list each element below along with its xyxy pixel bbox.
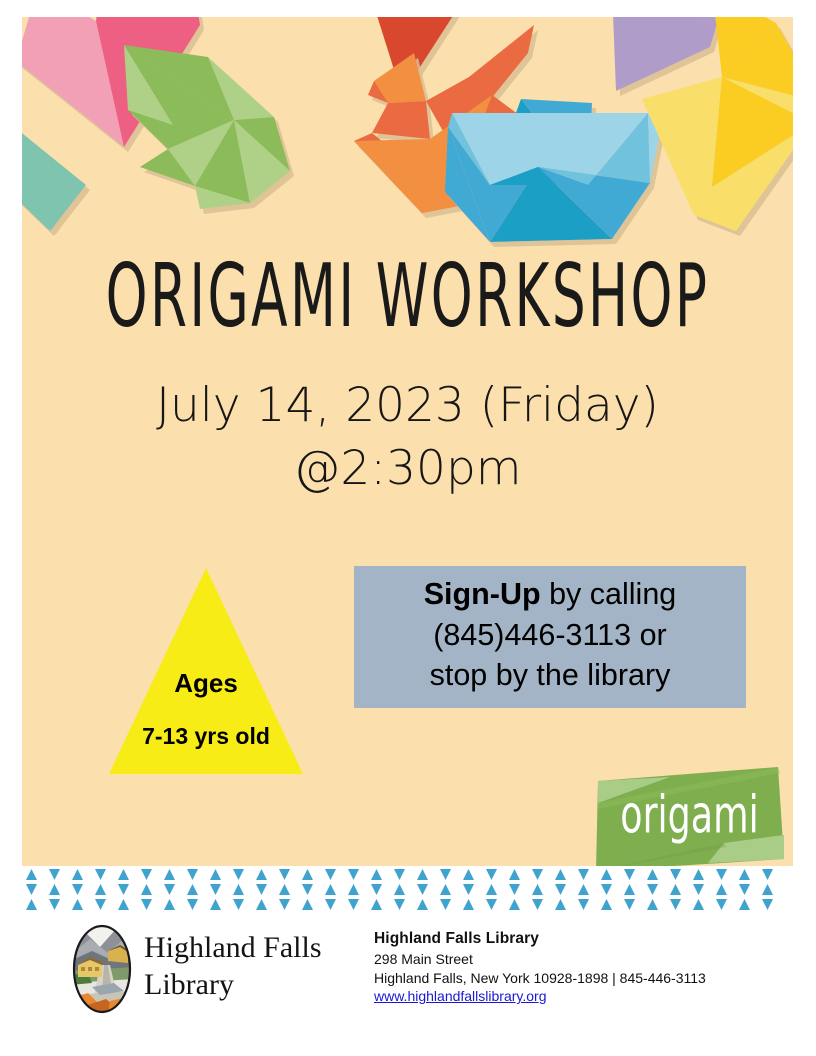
signup-phone-line: (845)446-3113 or (433, 618, 666, 652)
triangle-pattern (26, 869, 773, 910)
ages-badge: Ages 7-13 yrs old (106, 564, 306, 779)
event-time: @2:30pm (22, 438, 793, 501)
signup-line3: stop by the library (430, 658, 671, 692)
ages-label: Ages (106, 668, 306, 699)
event-datetime: July 14, 2023 (Friday) @2:30pm (22, 375, 793, 500)
signup-emphasis: Sign-Up (424, 577, 541, 611)
brand-line-1: Highland Falls (144, 930, 344, 967)
green-pinwheel-shape (124, 45, 290, 209)
brand-line-2: Library (144, 967, 344, 1004)
event-date: July 14, 2023 (Friday) (156, 378, 659, 433)
purple-triangle-shape (612, 17, 722, 91)
library-brand-name: Highland Falls Library (144, 930, 344, 1003)
origami-wordmark: origami (604, 789, 776, 841)
address-lines: 298 Main Street Highland Falls, New York… (374, 950, 794, 1005)
teal-diamond-shape (22, 117, 86, 231)
address-street: 298 Main Street (374, 950, 794, 968)
origami-artwork-band (22, 17, 793, 257)
ages-range-label: 7-13 yrs old (106, 723, 306, 750)
signup-line1-rest: by calling (541, 577, 677, 611)
blue-boat-shape (445, 99, 662, 242)
triangle-divider (22, 869, 792, 912)
signup-info-box: Sign-Up by calling (845)446-3113 or stop… (354, 566, 746, 708)
origami-logo-banner: origami (592, 767, 787, 866)
footer: Highland Falls Library Highland Falls Li… (0, 916, 816, 1026)
page-title: ORIGAMI WORKSHOP (99, 253, 716, 340)
library-brand-lockup: Highland Falls Library (70, 919, 345, 1019)
address-title: Highland Falls Library (374, 928, 794, 950)
library-address-block: Highland Falls Library 298 Main Street H… (374, 928, 794, 1006)
signup-text: Sign-Up by calling (845)446-3113 or stop… (424, 574, 677, 696)
highland-falls-library-oval-logo (70, 921, 134, 1017)
poster-canvas: ORIGAMI WORKSHOP July 14, 2023 (Friday) … (22, 17, 793, 866)
address-city-phone: Highland Falls, New York 10928-1898 | 84… (374, 969, 794, 987)
library-website-link[interactable]: www.highlandfallslibrary.org (374, 987, 546, 1005)
